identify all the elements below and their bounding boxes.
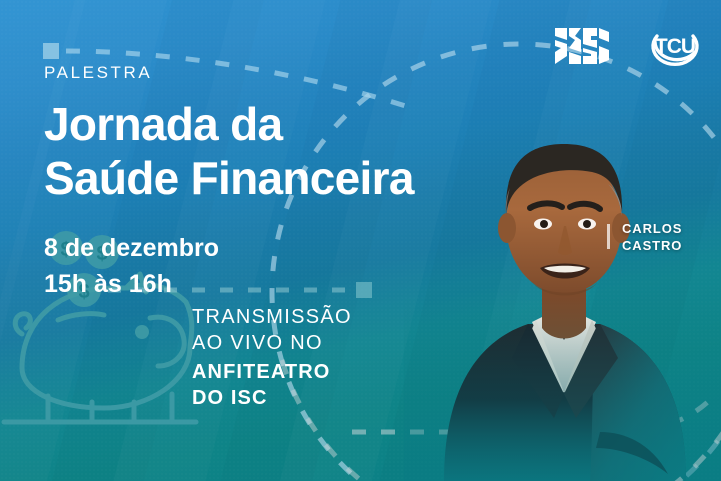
speaker-name-tick <box>607 224 610 249</box>
headline-block: PALESTRA Jornada da Saúde Financeira 8 d… <box>44 64 464 302</box>
speaker-name-label: CARLOS CASTRO <box>622 220 682 254</box>
broadcast-info: TRANSMISSÃO AO VIVO NO ANFITEATRO DO ISC <box>192 304 452 411</box>
broadcast-intro-text: TRANSMISSÃO AO VIVO NO <box>192 304 452 356</box>
date-time-text: 8 de dezembro 15h às 16h <box>44 230 464 303</box>
tcu-logo: TCU <box>647 22 703 70</box>
isc-logo <box>553 26 611 66</box>
svg-text:TCU: TCU <box>655 35 695 58</box>
page-title: Jornada da Saúde Financeira <box>44 98 464 206</box>
broadcast-venue-text: ANFITEATRO DO ISC <box>192 359 452 411</box>
eyebrow-label: PALESTRA <box>44 64 464 81</box>
event-promo-banner: $ $ $ <box>0 0 721 481</box>
logo-group: TCU <box>553 22 703 70</box>
